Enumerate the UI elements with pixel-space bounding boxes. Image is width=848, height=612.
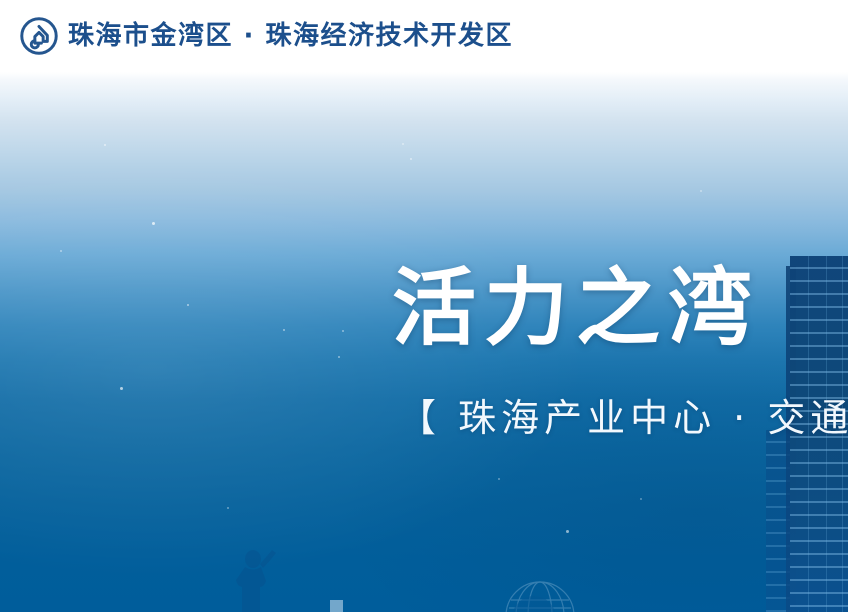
tower-mullion xyxy=(826,256,827,612)
tower-window-lines xyxy=(790,256,848,612)
statue-silhouette xyxy=(232,548,276,612)
background-gradient xyxy=(0,0,848,612)
skyscraper-silhouette xyxy=(786,256,848,612)
globe-sculpture-silhouette xyxy=(482,572,598,612)
circular-swirl-emblem-icon[interactable] xyxy=(20,17,58,55)
site-title: 珠海市金湾区 · 珠海经济技术开发区 xyxy=(68,23,513,49)
tower-mullion xyxy=(808,256,809,612)
site-header: 珠海市金湾区 · 珠海经济技术开发区 xyxy=(0,0,848,72)
kiosk-silhouette xyxy=(330,600,343,612)
poster-page: 珠海市金湾区 · 珠海经济技术开发区 活力之湾 【 珠海产业中心 · 交通 xyxy=(0,0,848,612)
tower-mullion xyxy=(842,256,843,612)
